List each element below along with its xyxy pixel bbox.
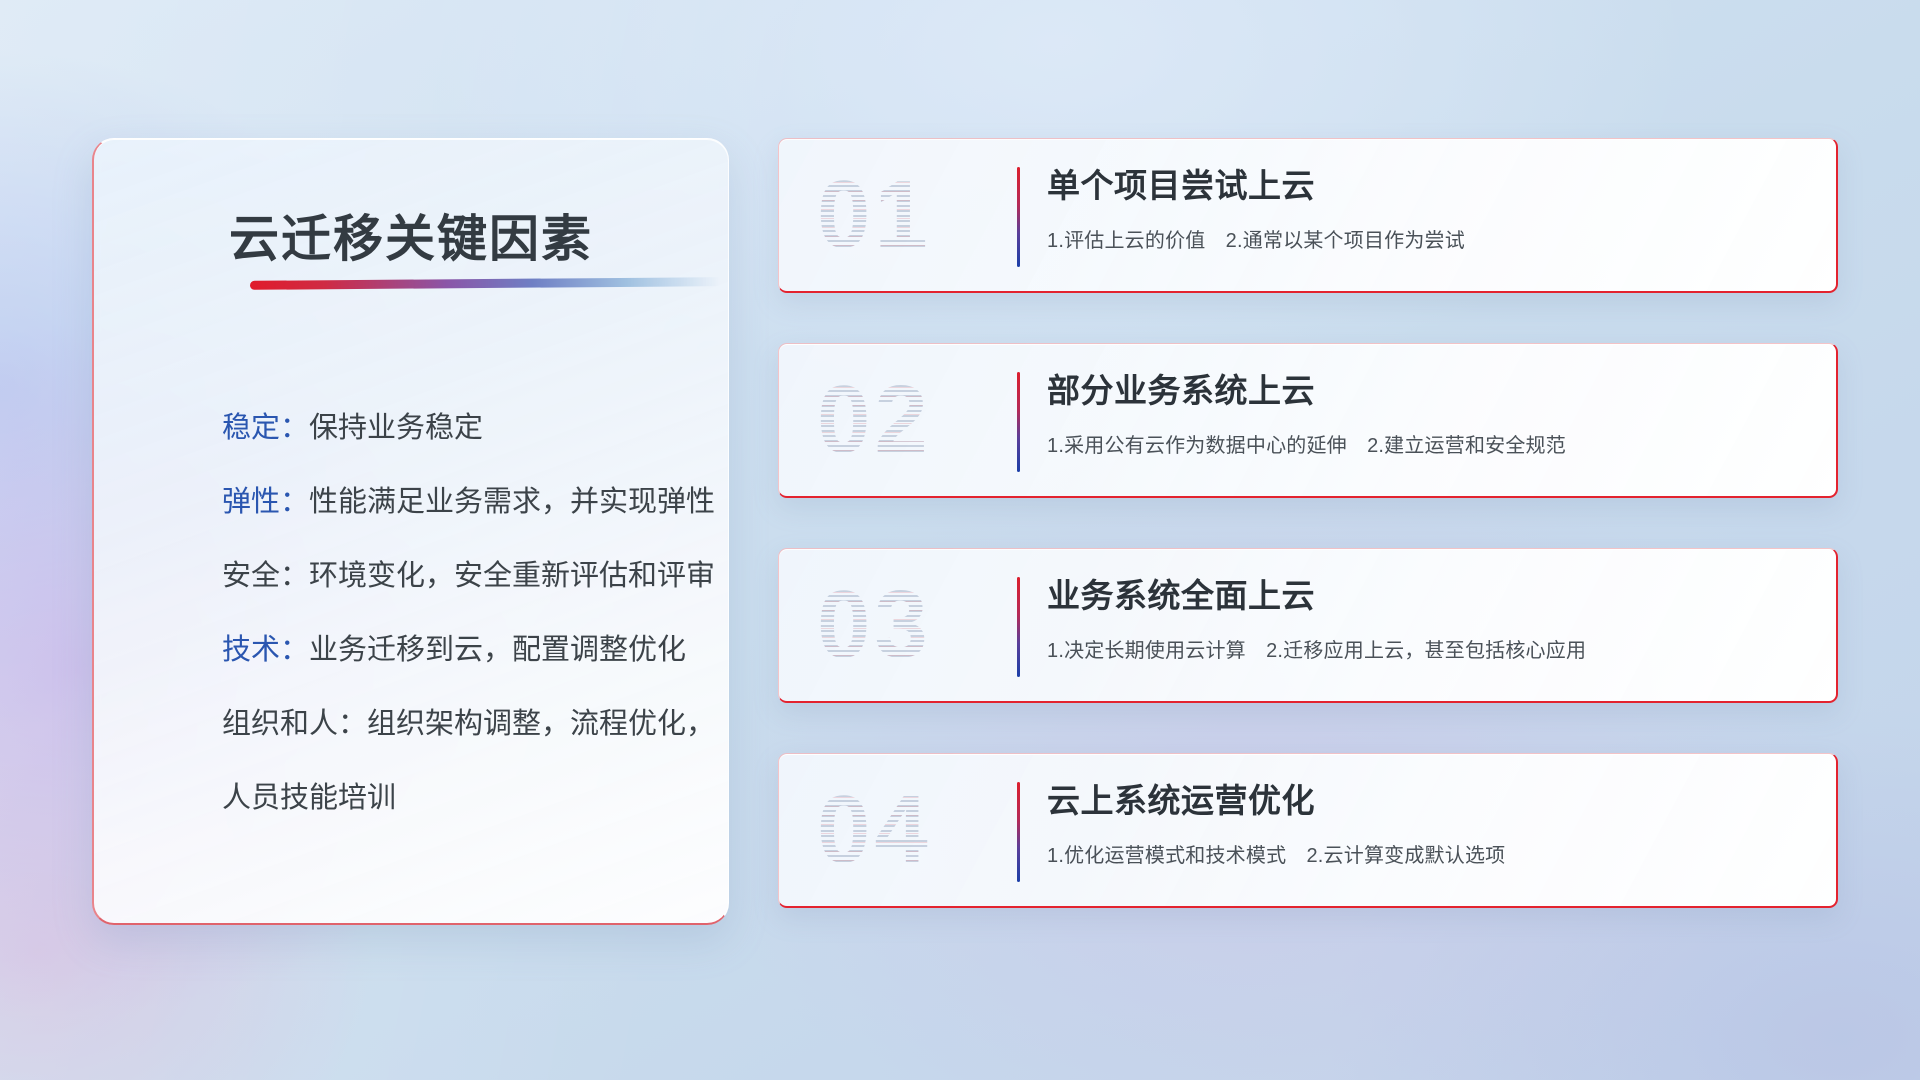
- stage-title: 单个项目尝试上云: [1047, 165, 1812, 206]
- factor-key: 稳定：: [222, 412, 309, 444]
- factor-key: 组织和人：: [222, 708, 367, 740]
- stage-card[interactable]: 02 部分业务系统上云 1.采用公有云作为数据中心的延伸 2.建立运营和安全规范: [778, 343, 1838, 498]
- stage-title: 云上系统运营优化: [1047, 780, 1812, 821]
- factor-value: 环境变化，安全重新评估和评审: [309, 560, 715, 592]
- stage-description: 1.采用公有云作为数据中心的延伸 2.建立运营和安全规范: [1047, 429, 1812, 458]
- page-title: 云迁移关键因素: [94, 199, 728, 271]
- stage-card-body: 业务系统全面上云 1.决定长期使用云计算 2.迁移应用上云，甚至包括核心应用: [1047, 575, 1812, 663]
- stage-card[interactable]: 03 业务系统全面上云 1.决定长期使用云计算 2.迁移应用上云，甚至包括核心应…: [778, 548, 1838, 703]
- stage-card[interactable]: 01 单个项目尝试上云 1.评估上云的价值 2.通常以某个项目作为尝试: [778, 138, 1838, 293]
- stage-card-body: 部分业务系统上云 1.采用公有云作为数据中心的延伸 2.建立运营和安全规范: [1047, 370, 1812, 458]
- factor-key: 弹性：: [222, 486, 309, 518]
- stage-card-list: 01 单个项目尝试上云 1.评估上云的价值 2.通常以某个项目作为尝试 02 部…: [778, 138, 1838, 908]
- factor-key: 安全：: [222, 560, 309, 592]
- factor-value: 保持业务稳定: [309, 412, 483, 444]
- factor-row: 人员技能培训: [222, 784, 690, 813]
- accent-divider: [1017, 372, 1020, 472]
- factor-value: 人员技能培训: [222, 782, 396, 814]
- stage-number: 04: [817, 770, 932, 890]
- accent-divider: [1017, 782, 1020, 882]
- key-factors-panel: 云迁移关键因素 稳定：保持业务稳定 弹性：性能满足业务需求，并实现弹性 安全：环…: [92, 138, 729, 925]
- stage-card-body: 云上系统运营优化 1.优化运营模式和技术模式 2.云计算变成默认选项: [1047, 780, 1812, 868]
- factor-row: 稳定：保持业务稳定: [222, 414, 690, 443]
- stage-number: 02: [817, 360, 932, 480]
- stage-number: 03: [817, 565, 932, 685]
- stage-card-body: 单个项目尝试上云 1.评估上云的价值 2.通常以某个项目作为尝试: [1047, 165, 1812, 253]
- factor-key: 技术：: [222, 634, 309, 666]
- stage-title: 业务系统全面上云: [1047, 575, 1812, 616]
- accent-divider: [1017, 167, 1020, 267]
- factor-row: 技术：业务迁移到云，配置调整优化: [222, 636, 690, 665]
- factor-list: 稳定：保持业务稳定 弹性：性能满足业务需求，并实现弹性 安全：环境变化，安全重新…: [222, 414, 690, 813]
- factor-row: 安全：环境变化，安全重新评估和评审: [222, 562, 690, 591]
- factor-row: 弹性：性能满足业务需求，并实现弹性: [222, 488, 690, 517]
- stage-number: 01: [817, 155, 932, 275]
- stage-card[interactable]: 04 云上系统运营优化 1.优化运营模式和技术模式 2.云计算变成默认选项: [778, 753, 1838, 908]
- accent-divider: [1017, 577, 1020, 677]
- factor-value: 性能满足业务需求，并实现弹性: [309, 486, 715, 518]
- factor-row: 组织和人：组织架构调整，流程优化，: [222, 710, 690, 739]
- stage-title: 部分业务系统上云: [1047, 370, 1812, 411]
- title-underline-rule: [250, 277, 720, 290]
- stage-description: 1.优化运营模式和技术模式 2.云计算变成默认选项: [1047, 839, 1812, 868]
- stage-description: 1.决定长期使用云计算 2.迁移应用上云，甚至包括核心应用: [1047, 634, 1812, 663]
- factor-value: 业务迁移到云，配置调整优化: [309, 634, 686, 666]
- factor-value: 组织架构调整，流程优化，: [367, 708, 715, 740]
- stage-description: 1.评估上云的价值 2.通常以某个项目作为尝试: [1047, 224, 1812, 253]
